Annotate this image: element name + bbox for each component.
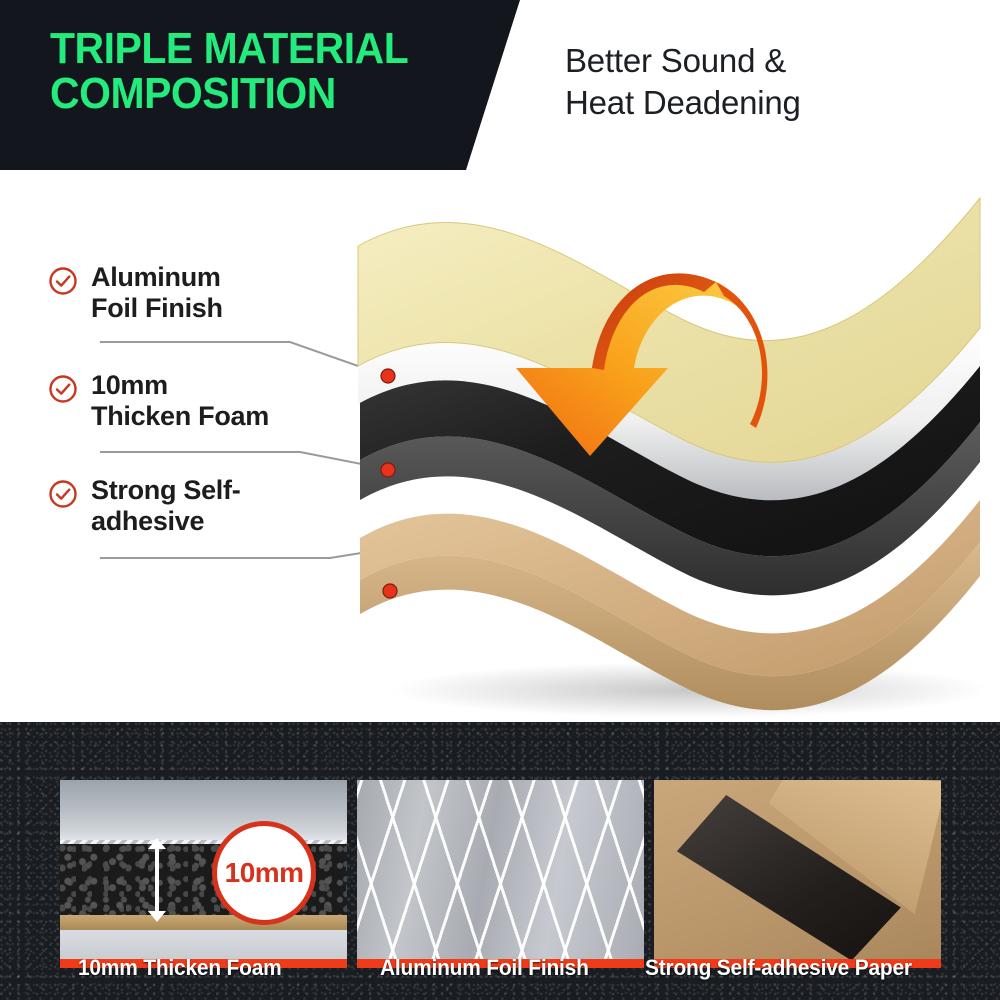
gallery-caption-foam: 10mm Thicken Foam [78,955,282,981]
thickness-badge: 10mm [212,821,316,925]
gallery-caption-adhesive: Strong Self-adhesive Paper [645,955,912,981]
feature-item-aluminum-foil[interactable]: Aluminum Foil Finish [48,262,388,325]
check-circle-icon [48,374,78,404]
layered-material-illustration [330,170,1000,722]
feature-item-label: Aluminum Foil Finish [91,262,223,325]
check-circle-icon [48,479,78,509]
foam-top-facing [60,780,347,844]
foil-diamond-pattern [357,780,644,968]
feature-item-label: Strong Self- adhesive [91,475,240,538]
adhesive-peel-photo[interactable] [654,780,941,968]
aluminum-foil-texture-photo[interactable] [357,780,644,968]
foam-cross-section-photo[interactable]: 10mm [60,780,347,968]
header-banner: TRIPLE MATERIAL COMPOSITION Better Sound… [0,0,1000,170]
header-subtitle: Better Sound & Heat Deadening [565,40,965,124]
gallery-caption-foil: Aluminum Foil Finish [380,955,589,981]
feature-list: Aluminum Foil Finish 10mm Thicken Foam S… [0,170,400,722]
check-circle-icon [48,266,78,296]
foam-kraft-backing [60,915,347,930]
feature-item-label: 10mm Thicken Foam [91,370,269,433]
composition-diagram-section: Aluminum Foil Finish 10mm Thicken Foam S… [0,170,1000,722]
feature-item-self-adhesive[interactable]: Strong Self- adhesive [48,475,388,538]
thickness-arrow-icon [155,848,159,912]
feature-item-thicken-foam[interactable]: 10mm Thicken Foam [48,370,388,433]
page-title: TRIPLE MATERIAL COMPOSITION [50,26,459,117]
